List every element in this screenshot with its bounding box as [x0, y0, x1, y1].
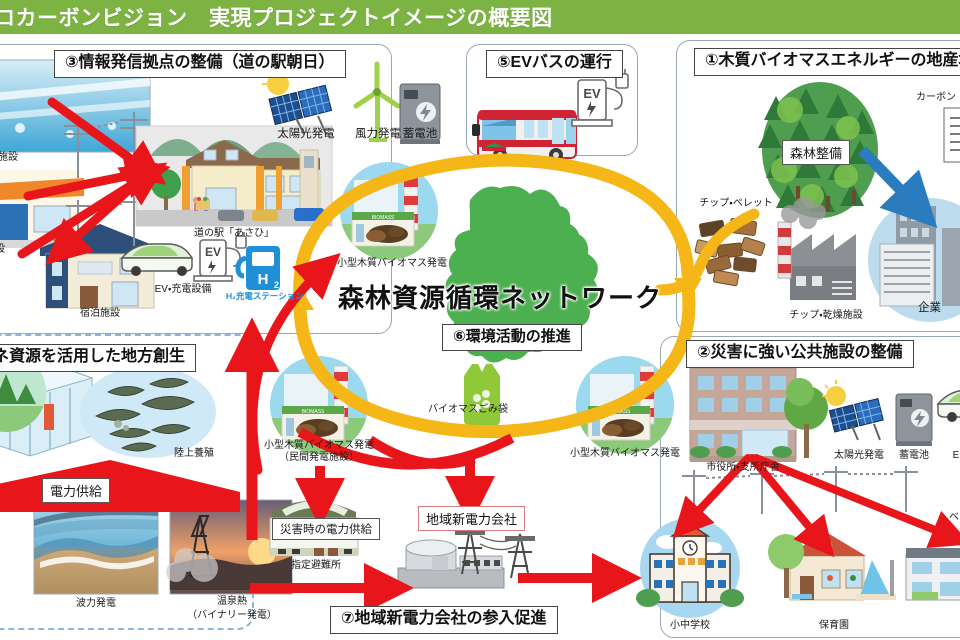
east-utility-poles-group: [682, 466, 918, 516]
caption-school: 小中学校: [650, 620, 730, 632]
caption-lodging: 宿泊施設: [50, 308, 150, 320]
caption-forest-maintenance: 森林整備: [782, 140, 850, 165]
land-aquaculture-image: [80, 366, 216, 458]
caption-chip-pellet: チップ・ペレット: [686, 198, 786, 210]
caption-battery-east: 蓄電池: [888, 450, 940, 462]
svg-text:H: H: [258, 271, 269, 288]
caption-onsen-2: （バイナリー発電）: [172, 610, 292, 622]
caption-ev-east-clip: E: [944, 450, 960, 462]
caption-east-clip: ベ: [944, 512, 960, 524]
biomass-bag-image: [464, 364, 500, 426]
caption-biomass-bag: バイオマスごみ袋: [412, 404, 524, 416]
carbon-document-image: [944, 108, 960, 162]
caption-clipped-facility-1: 施設: [0, 152, 30, 164]
section-box-2[interactable]: ②災害に強い公共施設の整備: [686, 340, 914, 368]
caption-wave-power: 波力発電: [46, 598, 146, 610]
caption-city-hall: 市役所・支所庁舎: [688, 462, 798, 474]
caption-nursery: 保育園: [804, 620, 864, 632]
caption-biomass-north: 小型木質バイオマス発電: [322, 258, 462, 270]
svg-text:BIOMASS: BIOMASS: [372, 215, 395, 221]
wood-chips-image: [695, 218, 766, 286]
caption-michinoeki: 道の駅「あさひ」: [168, 228, 300, 240]
biomass-plant-circle-east: BIOMASS: [576, 356, 674, 454]
h2-station-image: H 2: [238, 246, 280, 290]
caption-carbon-clip: カーボン: [916, 92, 960, 104]
nursery-image: [768, 532, 896, 600]
caption-solar-north: 太陽光発電: [266, 128, 346, 141]
svg-text:EV: EV: [583, 86, 601, 101]
svg-text:2: 2: [274, 280, 279, 290]
svg-text:BIOMASS: BIOMASS: [302, 409, 325, 415]
caption-biomass-private-2: （民間発電施設）: [248, 452, 390, 464]
svg-text:BIOMASS: BIOMASS: [608, 409, 631, 415]
caption-battery-north: 蓄電池: [392, 128, 448, 141]
ev-car-east-image: [938, 390, 960, 422]
caption-clipped-facility-2: 設: [0, 244, 18, 256]
caption-land-aquaculture: 陸上養殖: [156, 448, 232, 460]
ev-bus-image: [472, 110, 576, 162]
svg-text:EV: EV: [205, 245, 221, 259]
caption-solar-east: 太陽光発電: [822, 450, 896, 462]
east-clipped-building-image: [906, 548, 960, 600]
section-box-6[interactable]: ⑥環境活動の推進: [442, 324, 582, 351]
caption-new-power-company: 地域新電力会社: [418, 506, 525, 531]
caption-biomass-private-1: 小型木質バイオマス発電: [248, 440, 390, 452]
city-hall-image: [690, 368, 828, 462]
school-image: [636, 518, 744, 618]
ev-car-image: [122, 244, 192, 276]
section-box-5[interactable]: ⑤EVバスの運行: [486, 50, 623, 78]
caption-disaster-power: 災害時の電力供給: [272, 518, 380, 540]
section-box-1[interactable]: ①木質バイオマスエネルギーの地産地消: [694, 48, 960, 76]
section-box-7[interactable]: ⑦地域新電力会社の参入促進: [330, 606, 558, 634]
chip-drying-facility-image: [778, 197, 856, 300]
caption-evacuation-center: 指定避難所: [276, 560, 356, 572]
caption-chip-drying: チップ・乾燥施設: [772, 310, 880, 322]
caption-power-supply: 電力供給: [42, 478, 110, 503]
battery-east-image: [896, 394, 932, 446]
section-box-3[interactable]: ③情報発信拠点の整備（道の駅朝日）: [54, 50, 346, 78]
section-box-4[interactable]: ネ資源を活用した地方創生: [0, 344, 196, 372]
solar-panel-east-image: [822, 380, 883, 440]
wave-power-image: [34, 508, 158, 594]
network-title: 森林資源循環ネットワーク: [338, 278, 662, 315]
caption-h2-station: H₂充電ステーション: [226, 292, 302, 302]
caption-ev-charge: EV・充電設備: [128, 284, 238, 296]
caption-biomass-east: 小型木質バイオマス発電: [554, 448, 696, 460]
caption-onsen-1: 温泉熱: [182, 596, 282, 608]
biomass-plant-circle-north: BIOMASS: [340, 162, 438, 260]
caption-company: 企業: [918, 302, 958, 315]
